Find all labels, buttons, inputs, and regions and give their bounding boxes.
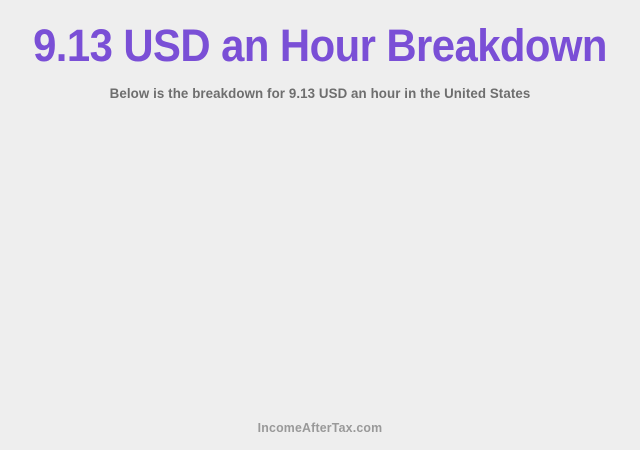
footer-watermark: IncomeAfterTax.com xyxy=(16,420,624,436)
page-root: 9.13 USD an Hour Breakdown Below is the … xyxy=(0,0,640,450)
footer: IncomeAfterTax.com xyxy=(0,420,640,450)
chart-plot-area xyxy=(0,102,640,420)
page-subtitle: Below is the breakdown for 9.13 USD an h… xyxy=(16,70,624,102)
chart-body xyxy=(0,102,640,420)
header: 9.13 USD an Hour Breakdown Below is the … xyxy=(0,0,640,102)
page-title: 9.13 USD an Hour Breakdown xyxy=(22,22,617,70)
